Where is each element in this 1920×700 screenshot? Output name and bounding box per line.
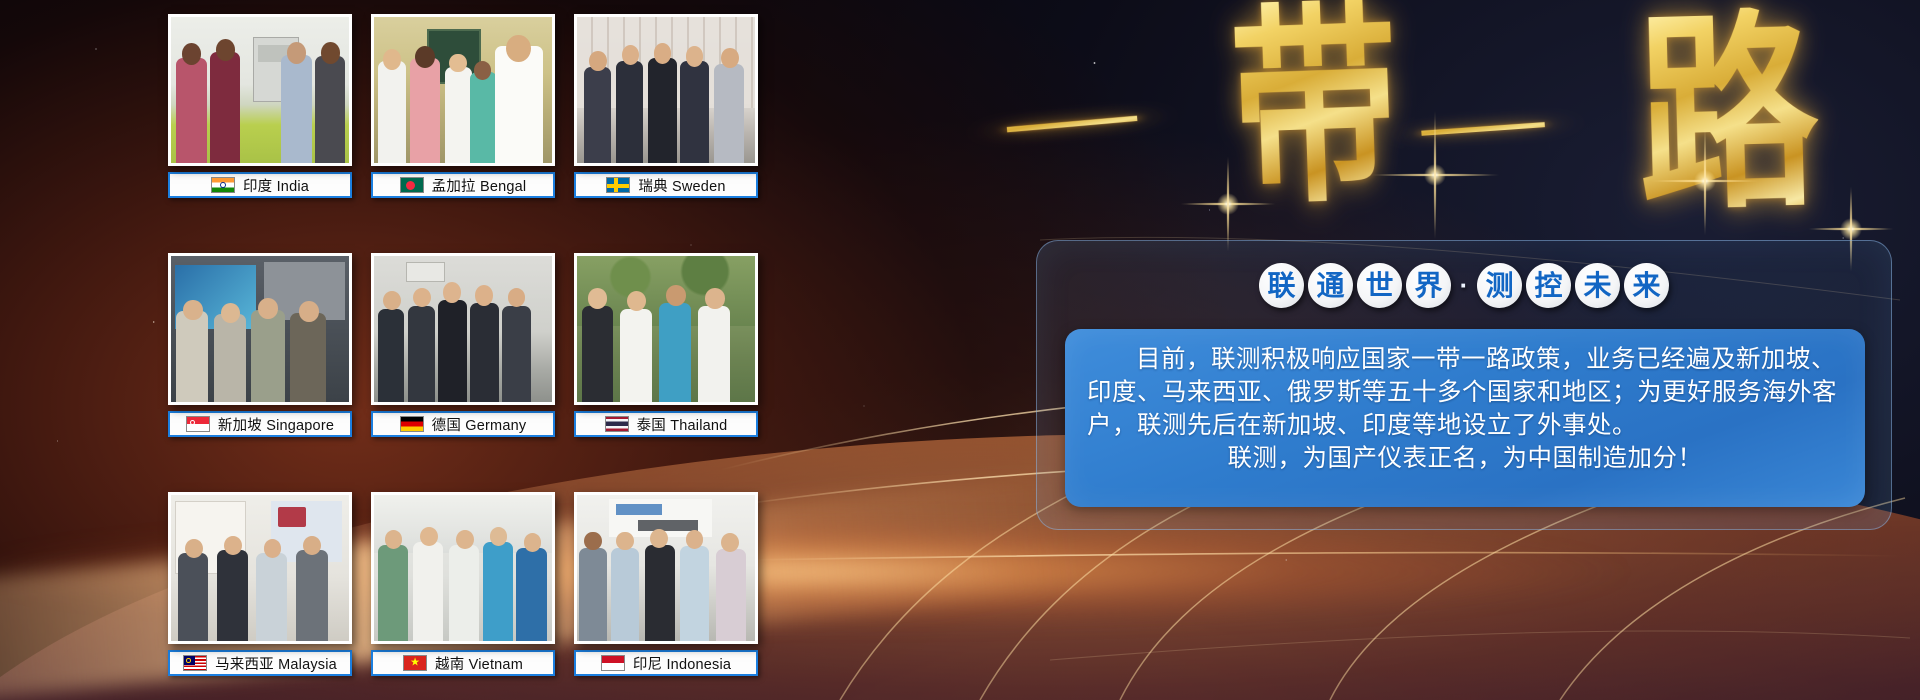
country-label-text: 印尼 Indonesia [633, 653, 731, 674]
calligraphy-char-4: 路 [1635, 6, 1821, 222]
photo-thailand [577, 256, 755, 402]
country-label-text: 马来西亚 Malaysia [215, 653, 337, 674]
country-label: ★ 越南 Vietnam [371, 650, 555, 676]
photo-indonesia [577, 495, 755, 641]
photo-frame [574, 14, 758, 166]
country-label: 印尼 Indonesia [574, 650, 758, 676]
slogan-char: 界 [1406, 263, 1451, 308]
gallery-card-thailand[interactable]: 泰国 Thailand [574, 253, 758, 437]
slogan-char: 世 [1357, 263, 1402, 308]
photo-vietnam [374, 495, 552, 641]
country-photo-grid: 印度 India 孟加拉 Bengal [168, 14, 758, 674]
photo-frame [371, 14, 555, 166]
slogan-char: 未 [1575, 263, 1620, 308]
slogan-char: 通 [1308, 263, 1353, 308]
belt-and-road-banner: 印度 India 孟加拉 Bengal [0, 0, 1920, 700]
slogan-char: 来 [1624, 263, 1669, 308]
calligraphy-char-3: 一 [1416, 104, 1549, 158]
country-label: 新加坡 Singapore [168, 411, 352, 437]
gallery-card-indonesia[interactable]: 印尼 Indonesia [574, 492, 758, 676]
country-label: 瑞典 Sweden [574, 172, 758, 198]
photo-singapore [171, 256, 349, 402]
flag-vietnam: ★ [403, 655, 427, 671]
description-box: 目前，联测积极响应国家一带一路政策，业务已经遍及新加坡、印度、马来西亚、俄罗斯等… [1065, 329, 1865, 507]
country-label: 孟加拉 Bengal [371, 172, 555, 198]
photo-frame [371, 253, 555, 405]
flag-sweden [606, 177, 630, 193]
photo-malaysia [171, 495, 349, 641]
gallery-card-vietnam[interactable]: ★ 越南 Vietnam [371, 492, 555, 676]
photo-frame [168, 14, 352, 166]
flag-bangladesh [400, 177, 424, 193]
flag-thailand [605, 416, 629, 432]
photo-frame [574, 492, 758, 644]
country-label-text: 越南 Vietnam [435, 653, 523, 674]
gallery-card-sweden[interactable]: 瑞典 Sweden [574, 14, 758, 198]
flag-germany [400, 416, 424, 432]
country-label-text: 德国 Germany [432, 414, 527, 435]
flag-india [211, 177, 235, 193]
belt-and-road-calligraphy: 一 带 一 路 [1030, 8, 1910, 223]
flag-singapore [186, 416, 210, 432]
description-paragraph-2: 联测，为国产仪表正名，为中国制造加分！ [1087, 441, 1843, 474]
country-label: 马来西亚 Malaysia [168, 650, 352, 676]
country-label-text: 新加坡 Singapore [218, 414, 334, 435]
slogan-row: 联 通 世 界 · 测 控 未 来 [1037, 263, 1891, 308]
flag-malaysia [183, 655, 207, 671]
calligraphy-char-1: 一 [1001, 96, 1143, 156]
photo-germany [374, 256, 552, 402]
description-paragraph-1: 目前，联测积极响应国家一带一路政策，业务已经遍及新加坡、印度、马来西亚、俄罗斯等… [1087, 342, 1843, 441]
photo-india [171, 17, 349, 163]
photo-frame [168, 253, 352, 405]
gallery-card-india[interactable]: 印度 India [168, 14, 352, 198]
photo-frame [168, 492, 352, 644]
flag-indonesia [601, 655, 625, 671]
photo-sweden [577, 17, 755, 163]
photo-frame [371, 492, 555, 644]
country-label: 印度 India [168, 172, 352, 198]
country-label-text: 泰国 Thailand [637, 414, 728, 435]
gallery-card-germany[interactable]: 德国 Germany [371, 253, 555, 437]
gallery-card-bengal[interactable]: 孟加拉 Bengal [371, 14, 555, 198]
photo-frame [574, 253, 758, 405]
country-label: 德国 Germany [371, 411, 555, 437]
slogan-char: 联 [1259, 263, 1304, 308]
calligraphy-char-2: 带 [1228, 0, 1403, 216]
gallery-card-malaysia[interactable]: 马来西亚 Malaysia [168, 492, 352, 676]
slogan-separator-dot: · [1455, 263, 1473, 308]
slogan-char: 控 [1526, 263, 1571, 308]
info-panel: 联 通 世 界 · 测 控 未 来 目前，联测积极响应国家一带一路政策，业务已经… [1036, 240, 1892, 530]
country-label-text: 瑞典 Sweden [638, 175, 725, 196]
photo-bengal [374, 17, 552, 163]
country-label-text: 印度 India [243, 175, 309, 196]
slogan-char: 测 [1477, 263, 1522, 308]
country-label: 泰国 Thailand [574, 411, 758, 437]
country-label-text: 孟加拉 Bengal [432, 175, 527, 196]
gallery-card-singapore[interactable]: 新加坡 Singapore [168, 253, 352, 437]
